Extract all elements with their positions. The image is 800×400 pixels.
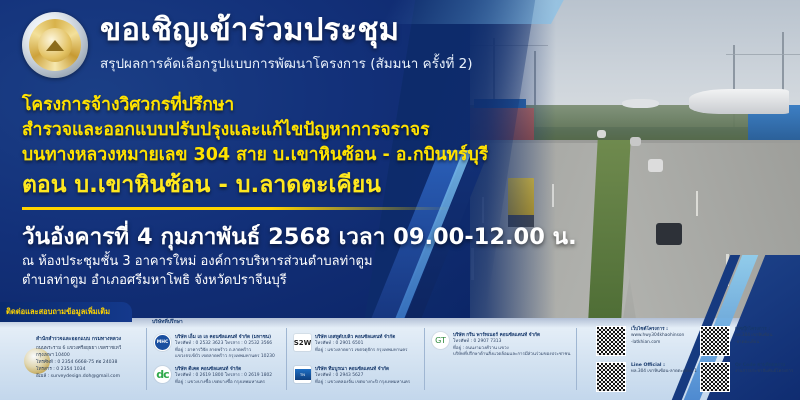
firm-details: บริษัท เอสทูดับบลิว คอนซัลแตนท์ จำกัด โท… [315,334,407,354]
qr-code-icon[interactable] [596,362,626,392]
qr-line-1: งานการประชาสัมพันธ์โครงการ [735,369,793,374]
page-title: ขอเชิญเข้าร่วมประชุม [100,14,399,47]
firm-name: บริษัท เอสทูดับบลิว คอนซัลแตนท์ จำกัด [315,334,407,341]
event-venue-line-2: ตำบลท่าตูม อำเภอศรีมหาโพธิ จังหวัดปราจีน… [22,269,287,290]
doh-phone: โทรศัพท์ : 0 2354 6668-75 ต่อ 24038 [36,360,117,365]
firm-name: บริษัท กรีน พาร์ทเนอร์ คอนซัลแตนท์ จำกัด [453,332,570,339]
consultant-label: บริษัทที่ปรึกษา [152,318,183,326]
firm-address-2: แขวงจรเข้บัว เขตลาดพร้าว กรุงเทพมหานคร 1… [175,354,275,359]
doh-name: สำนักสำรวจและออกแบบ กรมทางหลวง [36,336,144,344]
firm-entry: GT บริษัท กรีน พาร์ทเนอร์ คอนซัลแตนท์ จำ… [432,332,572,359]
car [656,223,682,245]
firm-address-1: ที่อยู่ : แขวงลาดยาว เขตจตุจักร กรุงเทพม… [315,348,407,353]
department-of-highways-emblem [22,12,88,78]
greentech-logo-icon: GT [432,332,449,349]
car [597,130,606,138]
emblem-ring [29,19,81,71]
firm-address-2: บริษัทที่ปรึกษาด้านสิ่งแวดล้อมและการมีส่… [453,352,570,357]
firm-details: บริษัท ทีมบูรณา คอนซัลแตนท์ จำกัด โทรศัพ… [315,366,410,386]
s2w-logo-icon: S2W [294,334,311,351]
event-venue-line-1: ณ ห้องประชุมชั้น 3 อาคารใหม่ องค์การบริห… [22,250,373,271]
qr-entry-line[interactable]: Line Official : ทล.304 เขาหินซ้อน-ลาดตะเ… [596,362,697,392]
firm-address-1: ที่อยู่ : อาคารวิจัย ลาดพร้าว ถ.ลาดพร้าว [175,348,251,353]
qr-line-1: www.hwy304khaohinson [631,333,684,338]
doh-address-1: ถนนพระราม 6 แขวงศรีอยุธยา เขตราชเทวี [36,346,121,351]
firm-phone: โทรศัพท์ : 0 2907 7313 [453,339,501,344]
firm-name: บริษัท ดีเคด คอนซัลแตนท์ จำกัด [175,366,272,373]
qr-code-icon[interactable] [700,362,730,392]
qr-code-icon[interactable] [596,326,626,356]
s2w-logo-text: S2W [294,339,311,347]
firm-phone: โทรศัพท์ : 0 2532 3623 โทรสาร : 0 2532 3… [175,341,272,346]
firm-address-1: ที่อยู่ : แขวงคลองจั่น เขตบางกะปิ กรุงเท… [315,380,410,385]
firm-entry: MHC บริษัท เอ็ม เอ เอ คอนซัลแตนท์ จำกัด … [154,334,282,361]
firm-address-1: ที่อยู่ : แขวงบางซื่อ เขตบางซื่อ กรุงเทพ… [175,380,265,385]
firm-phone: โทรศัพท์ : 0 2943 5627 [315,373,363,378]
firm-details: บริษัท เอ็ม เอ เอ คอนซัลแตนท์ จำกัด (มหา… [175,334,275,361]
lane-marking [696,191,698,216]
footer-divider [576,328,577,390]
doh-address-2: กรุงเทพฯ 10400 [36,353,70,358]
qr-entry-facebook[interactable]: เฟซบุ๊กโครงการ : ทล.304 เขาหินซ้อน -ลาดต… [700,326,772,356]
contact-banner: ติดต่อและสอบถามข้อมูลเพิ่มเติม [0,302,132,322]
poster-root: ขอเชิญเข้าร่วมประชุม สรุปผลการคัดเลือกรู… [0,0,800,400]
qr-label: Line Official : ทล.304 เขาหินซ้อน-ลาดตะเ… [631,362,697,376]
emblem-core [38,28,72,62]
qr-line-1: ทล.304 เขาหินซ้อน-ลาดตะเคียน 1 [631,369,697,374]
project-line-2: สำรวจและออกแบบปรับปรุงและแก้ไขปัญหาการจร… [22,115,430,143]
divider-rule [22,207,452,210]
qr-code-area: เว็บไซต์โครงการ : www.hwy304khaohinson -… [596,326,796,396]
power-line [726,54,800,55]
firm-entry: TN บริษัท ทีมบูรณา คอนซัลแตนท์ จำกัด โทร… [294,366,420,386]
qr-code-icon[interactable] [700,326,730,356]
footer-divider [424,328,425,390]
tn-logo-icon: TN [294,366,311,383]
qr-line-2: -latkhian.com [631,340,660,345]
qr-line-2: -ลาดตะเคียน [735,340,759,345]
mhc-logo-icon: MHC [154,334,171,351]
doh-fax: โทรสาร : 0 2354 1034 [36,367,86,372]
event-datetime: วันอังคารที่ 4 กุมภาพันธ์ 2568 เวลา 09.0… [22,218,577,254]
qr-line-1: ทล.304 เขาหินซ้อน [735,333,772,338]
doh-email: อีเมล์ : surveydesign.doh@gmail.com [36,374,120,379]
qr-label: เฟซบุ๊กโครงการ : ทล.304 เขาหินซ้อน -ลาดต… [735,326,772,347]
firm-entry: dc บริษัท ดีเคด คอนซัลแตนท์ จำกัด โทรศัพ… [154,366,282,386]
firm-address-1: ที่อยู่ : ถนนงามวงศ์วาน แขวง [453,346,509,351]
firm-name: บริษัท ทีมบูรณา คอนซัลแตนท์ จำกัด [315,366,410,373]
project-line-3: บนทางหลวงหมายเลข 304 สาย บ.เขาหินซ้อน - … [22,140,488,168]
firm-details: บริษัท ดีเคด คอนซัลแตนท์ จำกัด โทรศัพท์ … [175,366,272,386]
page-subtitle: สรุปผลการคัดเลือกรูปแบบการพัฒนาโครงการ (… [100,52,473,74]
dc-logo-icon: dc [154,366,171,383]
qr-label: เว็บไซต์โครงการ : www.hwy304khaohinson -… [631,326,684,347]
dc-logo-text: dc [156,368,168,381]
project-line-1: โครงการจ้างวิศวกรที่ปรึกษา [22,90,234,118]
car [648,159,663,172]
mhc-logo-text: MHC [155,335,170,350]
sign-gantry [622,99,659,109]
car [630,137,641,147]
firm-phone: โทรศัพท์ : 0 2619 1800 โทรสาร : 0 2619 1… [175,373,272,378]
footer-divider [146,328,147,390]
emblem-chevron-icon [46,40,64,51]
firm-details: บริษัท กรีน พาร์ทเนอร์ คอนซัลแตนท์ จำกัด… [453,332,570,359]
qr-entry-website[interactable]: เว็บไซต์โครงการ : www.hwy304khaohinson -… [596,326,684,356]
greentech-logo-text: GT [435,336,446,345]
sign-gantry [689,89,789,114]
qr-entry-pr[interactable]: Qr Code ตามติดผลงาน งานการประชาสัมพันธ์โ… [700,362,793,392]
firm-name: บริษัท เอ็ม เอ เอ คอนซัลแตนท์ จำกัด (มหา… [175,334,275,341]
project-section-name: ตอน บ.เขาหินซ้อน - บ.ลาดตะเคียน [22,167,381,203]
header-light-streak [381,0,569,24]
contact-banner-label: ติดต่อและสอบถามข้อมูลเพิ่มเติม [0,306,110,318]
firm-phone: โทรศัพท์ : 0 2901 6501 [315,341,363,346]
firm-entry: S2W บริษัท เอสทูดับบลิว คอนซัลแตนท์ จำกั… [294,334,420,354]
tn-logo-text: TN [295,369,311,380]
footer-divider [286,328,287,390]
qr-label: Qr Code ตามติดผลงาน งานการประชาสัมพันธ์โ… [735,362,793,376]
doh-contact-block: สำนักสำรวจและออกแบบ กรมทางหลวง ถนนพระราม… [36,336,144,380]
